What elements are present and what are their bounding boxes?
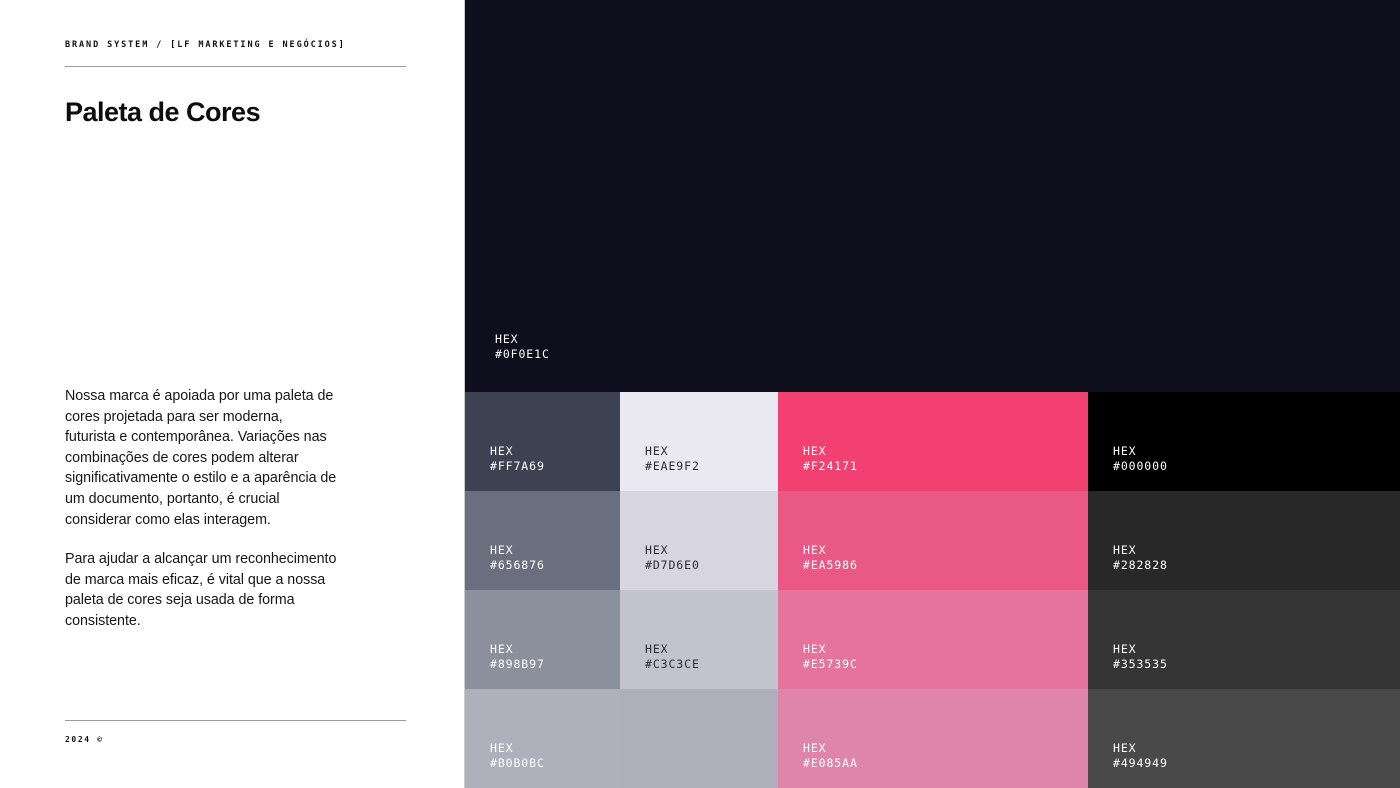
- color-swatch: HEX #494949: [1088, 689, 1400, 788]
- color-swatch: HEX #D7D6E0: [620, 491, 778, 590]
- swatch-hex-label: HEX #000000: [1113, 444, 1168, 474]
- swatch-hex-label: HEX #EAE9F2: [645, 444, 700, 474]
- color-swatch-grid: HEX #FF7A69HEX #EAE9F2HEX #F24171HEX #00…: [465, 392, 1400, 788]
- color-swatch: HEX #000000: [1088, 392, 1400, 491]
- color-swatch: HEX #EAE9F2: [620, 392, 778, 491]
- swatch-hex-label: HEX #E5739C: [803, 642, 858, 672]
- color-swatch: HEX #F24171: [778, 392, 1088, 491]
- color-swatch: HEX #EA5986: [778, 491, 1088, 590]
- color-swatch: [620, 689, 778, 788]
- paragraph-2: Para ajudar a alcançar um reconhecimento…: [65, 549, 337, 631]
- swatch-hex-label: HEX #C3C3CE: [645, 642, 700, 672]
- color-swatch: HEX #C3C3CE: [620, 590, 778, 689]
- color-swatch: HEX #E5739C: [778, 590, 1088, 689]
- color-swatch: HEX #353535: [1088, 590, 1400, 689]
- divider-top: [65, 66, 406, 67]
- swatch-hex-label: HEX #494949: [1113, 741, 1168, 771]
- swatch-hex-label: HEX #B0B0BC: [490, 741, 545, 771]
- breadcrumb-eyebrow: BRAND SYSTEM / [LF MARKETING E NEGÓCIOS]: [65, 40, 346, 50]
- swatch-hex-label: HEX #E085AA: [803, 741, 858, 771]
- swatch-hex-label: HEX #282828: [1113, 543, 1168, 573]
- page-title: Paleta de Cores: [65, 96, 365, 129]
- left-text-panel: BRAND SYSTEM / [LF MARKETING E NEGÓCIOS]…: [0, 0, 465, 788]
- swatch-hex-label: HEX #D7D6E0: [645, 543, 700, 573]
- brand-palette-page: BRAND SYSTEM / [LF MARKETING E NEGÓCIOS]…: [0, 0, 1400, 788]
- color-swatch: HEX #282828: [1088, 491, 1400, 590]
- swatch-hex-label: HEX #EA5986: [803, 543, 858, 573]
- swatch-hex-label: HEX #0F0E1C: [495, 332, 550, 362]
- swatch-hex-label: HEX #898B97: [490, 642, 545, 672]
- body-copy: Nossa marca é apoiada por uma paleta de …: [65, 386, 337, 632]
- swatch-hex-label: HEX #F24171: [803, 444, 858, 474]
- swatch-hex-label: HEX #656876: [490, 543, 545, 573]
- paragraph-1: Nossa marca é apoiada por uma paleta de …: [65, 386, 337, 530]
- color-swatch: HEX #B0B0BC: [465, 689, 620, 788]
- divider-bottom: [65, 720, 406, 721]
- swatch-hex-label: HEX #FF7A69: [490, 444, 545, 474]
- swatch-hex-label: HEX #353535: [1113, 642, 1168, 672]
- color-palette-panel: HEX #0F0E1C HEX #FF7A69HEX #EAE9F2HEX #F…: [465, 0, 1400, 788]
- color-swatch: HEX #656876: [465, 491, 620, 590]
- copyright-note: 2024 ©: [65, 735, 104, 744]
- color-swatch: HEX #898B97: [465, 590, 620, 689]
- color-swatch: HEX #E085AA: [778, 689, 1088, 788]
- color-swatch-hero: HEX #0F0E1C: [465, 0, 1400, 392]
- color-swatch: HEX #FF7A69: [465, 392, 620, 491]
